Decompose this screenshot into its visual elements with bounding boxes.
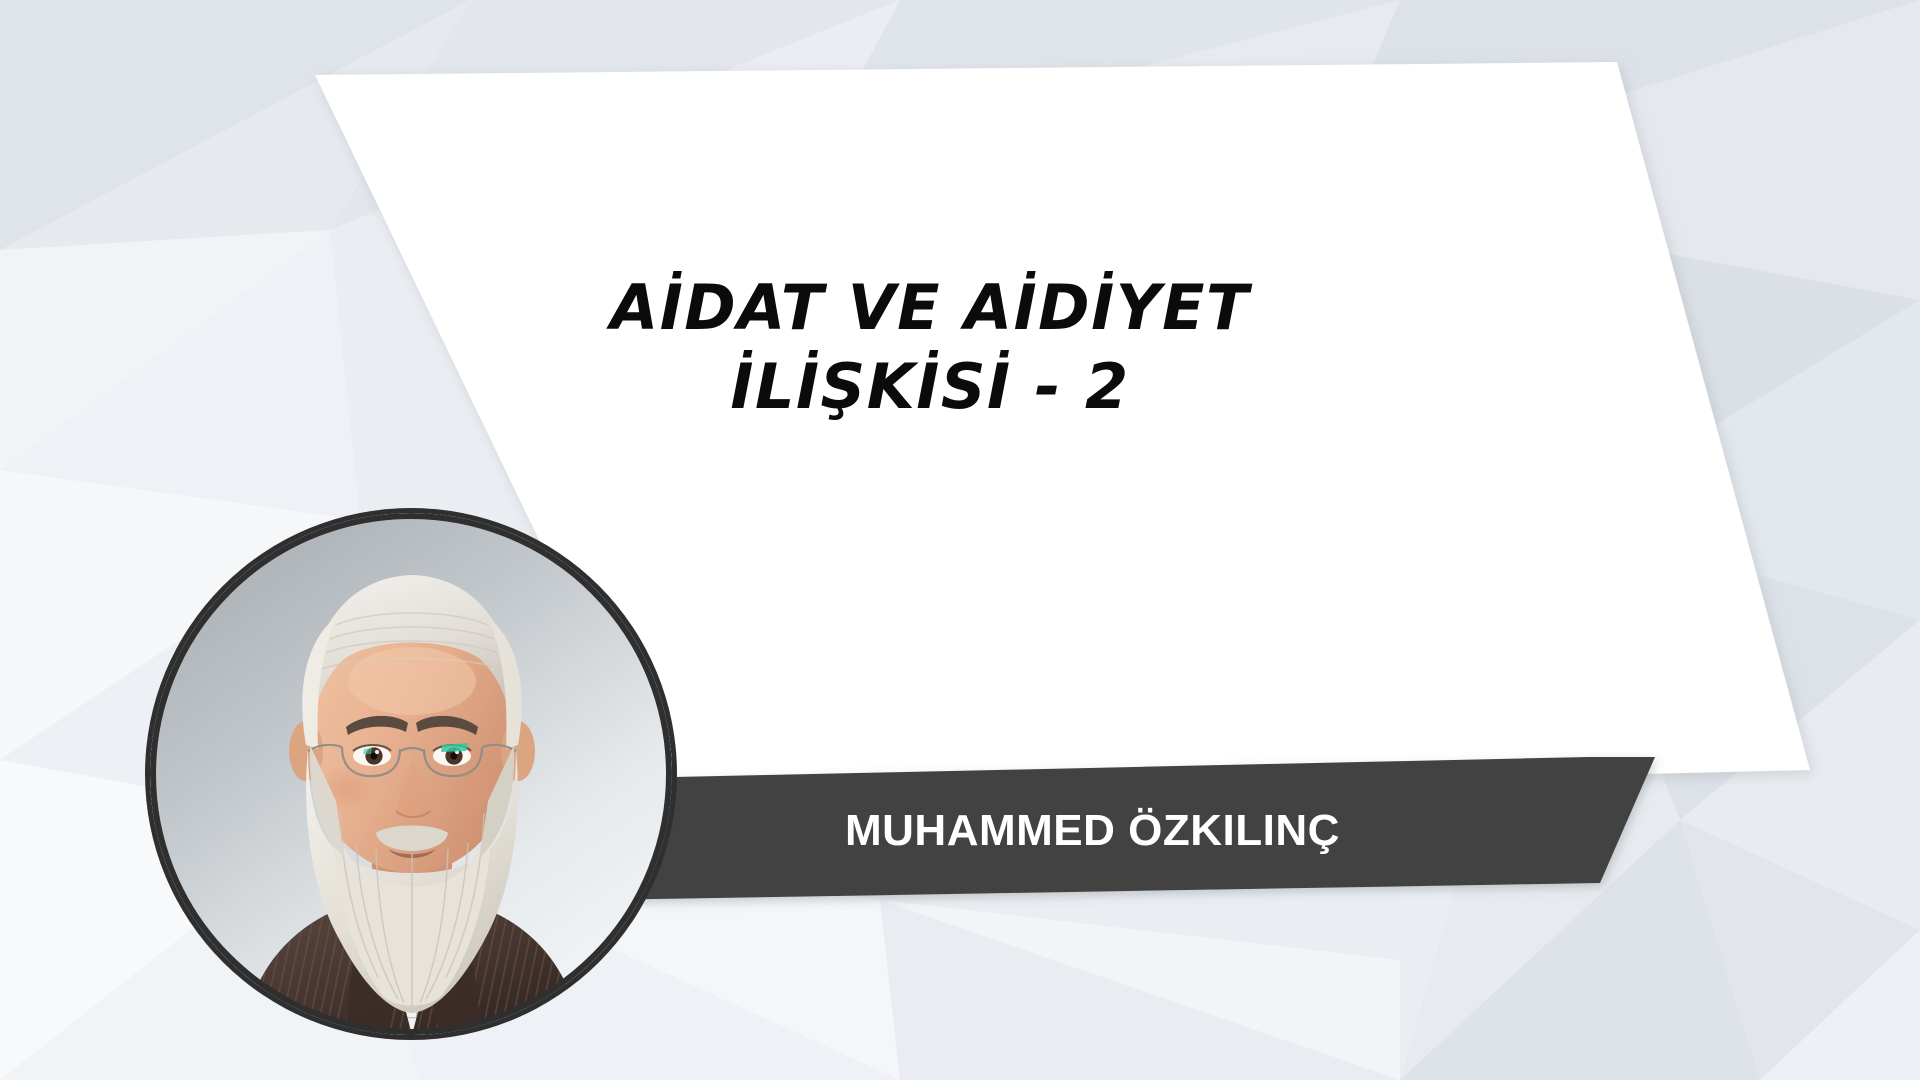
author-portrait-photo xyxy=(150,513,672,1035)
title-line-1: AİDAT VE AİDİYET xyxy=(560,268,1300,347)
author-name: MUHAMMED ÖZKILINÇ xyxy=(845,806,1340,856)
title-line-2: İLİŞKİSİ - 2 xyxy=(560,347,1300,426)
article-title: AİDAT VE AİDİYET İLİŞKİSİ - 2 xyxy=(560,268,1300,427)
article-header-banner: AİDAT VE AİDİYET İLİŞKİSİ - 2 MUHAMMED Ö… xyxy=(0,0,1920,1080)
